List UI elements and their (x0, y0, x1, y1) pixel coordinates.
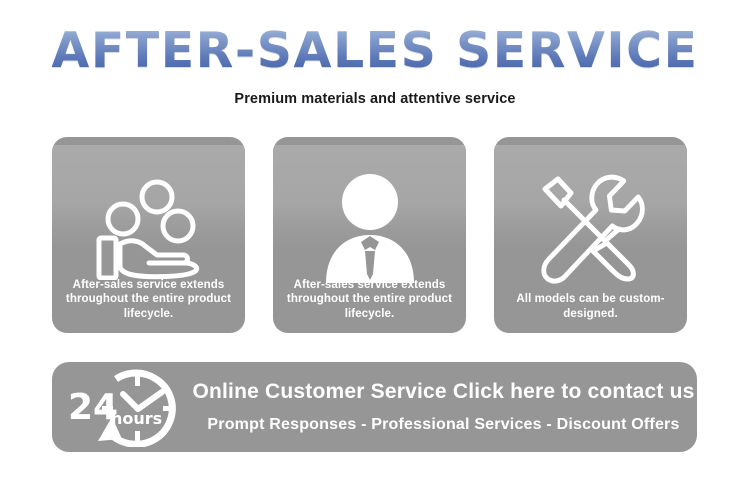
after-sales-service-banner: AFTER-SALES SERVICE AFTER-SALES SERVICE … (0, 0, 750, 491)
banner-primary-text[interactable]: Online Customer Service Click here to co… (192, 380, 694, 404)
business-person-icon (273, 165, 466, 290)
hand-with-circles-icon (52, 165, 245, 290)
clock-unit: hours (111, 409, 162, 428)
contact-banner[interactable]: 24 hours Online Customer Service Click h… (52, 362, 697, 452)
feature-card-1[interactable]: 01 After-sales service extends throughou… (52, 137, 245, 333)
feature-card-3[interactable]: 03 All models can be custom-designed. (494, 137, 687, 333)
card-description: After-sales service extends throughout t… (60, 278, 237, 321)
feature-card-2[interactable]: 02 After-sales service extends throughou… (273, 137, 466, 333)
banner-secondary-text: Prompt Responses - Professional Services… (207, 416, 679, 434)
card-description: After-sales service extends throughout t… (281, 278, 458, 321)
24-hours-clock-icon: 24 hours (64, 367, 192, 447)
wrench-screwdriver-icon (494, 165, 687, 290)
card-description: All models can be custom-designed. (502, 292, 679, 321)
banner-text-group: Online Customer Service Click here to co… (202, 362, 685, 452)
